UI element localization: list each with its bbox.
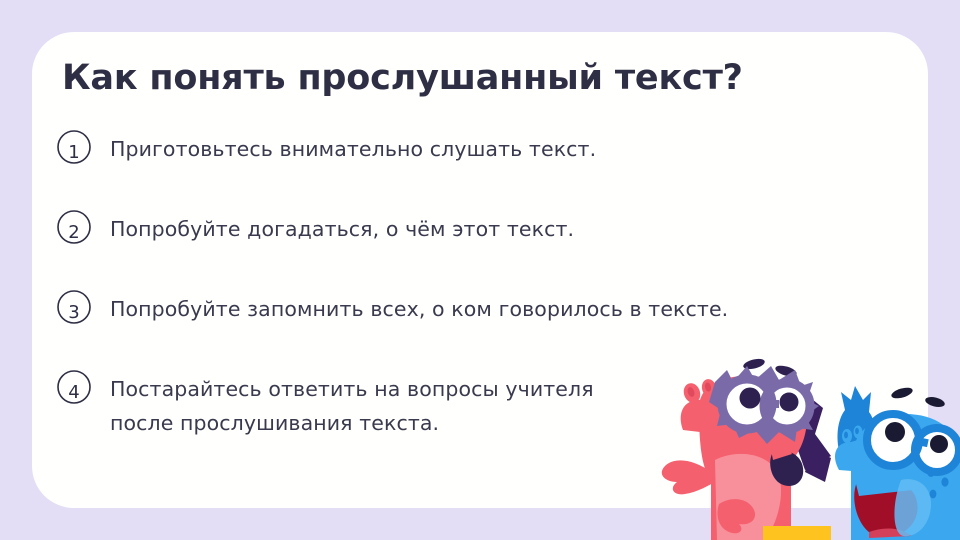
step-number: 3 bbox=[68, 302, 79, 323]
step-number-circle-icon: 1 bbox=[55, 128, 95, 168]
step-number-circle-icon: 2 bbox=[55, 208, 95, 248]
list-item-line-1: Попробуйте запомнить всех, о ком говорил… bbox=[110, 297, 728, 321]
step-number-circle-icon: 3 bbox=[55, 288, 95, 328]
page-title: Как понять прослушанный текст? bbox=[62, 58, 743, 98]
list-item-line-1: Приготовьтесь внимательно слушать текст. bbox=[110, 137, 596, 161]
list-item-line-1: Постарайтесь ответить на вопросы учителя bbox=[110, 377, 594, 401]
blue-dino-spots bbox=[927, 467, 949, 498]
list-item-text: Попробуйте догадаться, о чём этот текст. bbox=[110, 208, 885, 246]
list-item-line-1: Попробуйте догадаться, о чём этот текст. bbox=[110, 217, 574, 241]
step-number: 4 bbox=[68, 382, 79, 403]
list-item-line-2: после прослушивания текста. bbox=[110, 406, 885, 440]
list-item: 2 Попробуйте догадаться, о чём этот текс… bbox=[55, 208, 885, 288]
list-item-text: Попробуйте запомнить всех, о ком говорил… bbox=[110, 288, 885, 326]
pink-dino-shirt bbox=[763, 526, 831, 540]
step-number-circle-icon: 4 bbox=[55, 368, 95, 408]
blue-dino-right-pupil bbox=[930, 435, 948, 453]
list-item: 4 Постарайтесь ответить на вопросы учите… bbox=[55, 368, 885, 448]
step-number: 1 bbox=[68, 142, 79, 163]
list-item: 1 Приготовьтесь внимательно слушать текс… bbox=[55, 128, 885, 208]
steps-list: 1 Приготовьтесь внимательно слушать текс… bbox=[55, 128, 885, 448]
list-item-text: Постарайтесь ответить на вопросы учителя… bbox=[110, 368, 885, 440]
list-item-text: Приготовьтесь внимательно слушать текст. bbox=[110, 128, 885, 166]
list-item: 3 Попробуйте запомнить всех, о ком говор… bbox=[55, 288, 885, 368]
blue-dino-back-spikes bbox=[923, 448, 960, 512]
slide-canvas: Как понять прослушанный текст? 1 Пригото… bbox=[0, 0, 960, 540]
step-number: 2 bbox=[68, 222, 79, 243]
